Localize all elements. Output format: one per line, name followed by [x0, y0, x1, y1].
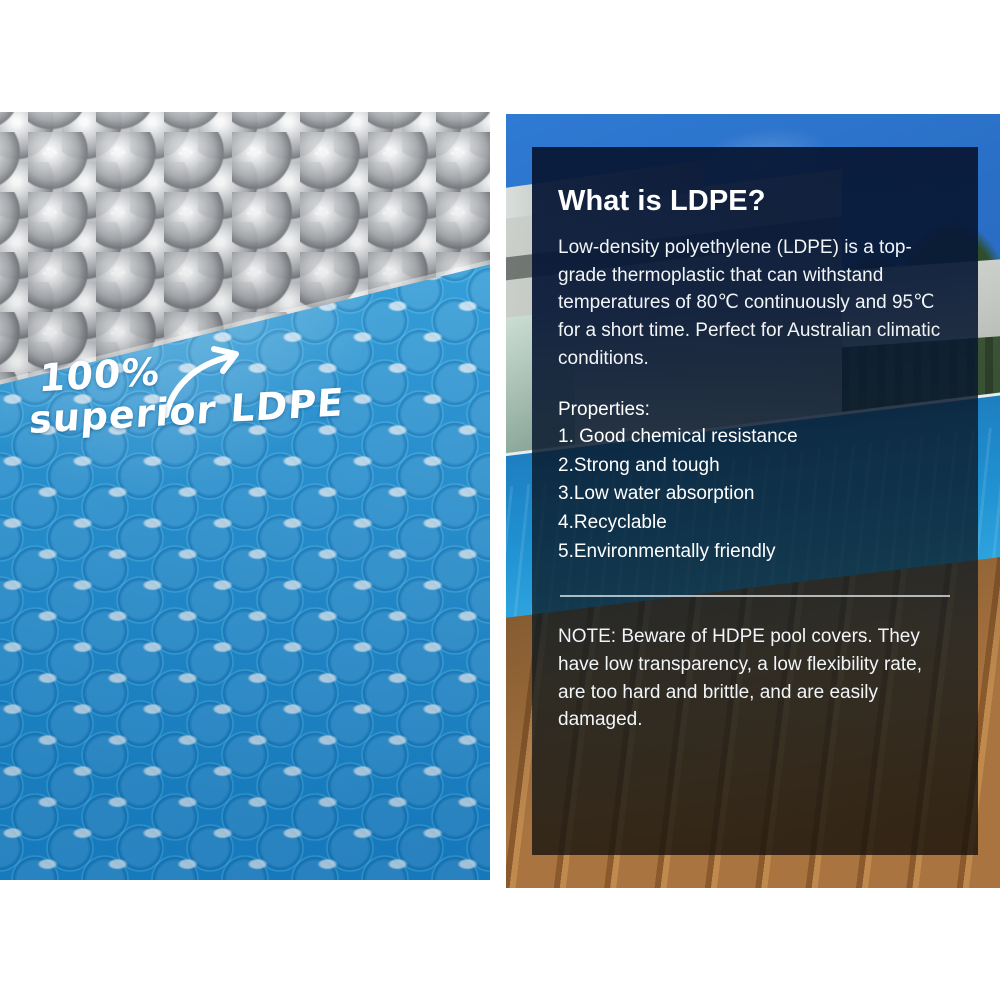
properties-list: 1. Good chemical resistance 2.Strong and…	[558, 423, 954, 567]
ldpe-info-panel: What is LDPE? Low-density polyethylene (…	[506, 114, 1000, 888]
properties-label: Properties:	[558, 399, 954, 421]
info-card: What is LDPE? Low-density polyethylene (…	[532, 147, 978, 855]
property-item: 2.Strong and tough	[558, 452, 954, 481]
bubble-cover-photo-panel: 100% superior LDPE	[0, 112, 490, 880]
card-divider	[560, 595, 950, 597]
property-item: 4.Recyclable	[558, 509, 954, 538]
card-lead-paragraph: Low-density polyethylene (LDPE) is a top…	[558, 234, 954, 373]
property-item: 1. Good chemical resistance	[558, 423, 954, 452]
card-note: NOTE: Beware of HDPE pool covers. They h…	[558, 623, 954, 734]
handwritten-callout: 100% superior LDPE	[26, 342, 345, 439]
property-item: 5.Environmentally friendly	[558, 538, 954, 567]
card-title: What is LDPE?	[558, 185, 954, 218]
property-item: 3.Low water absorption	[558, 480, 954, 509]
product-infographic: 100% superior LDPE What is LDPE? Low-den…	[0, 0, 1000, 1000]
